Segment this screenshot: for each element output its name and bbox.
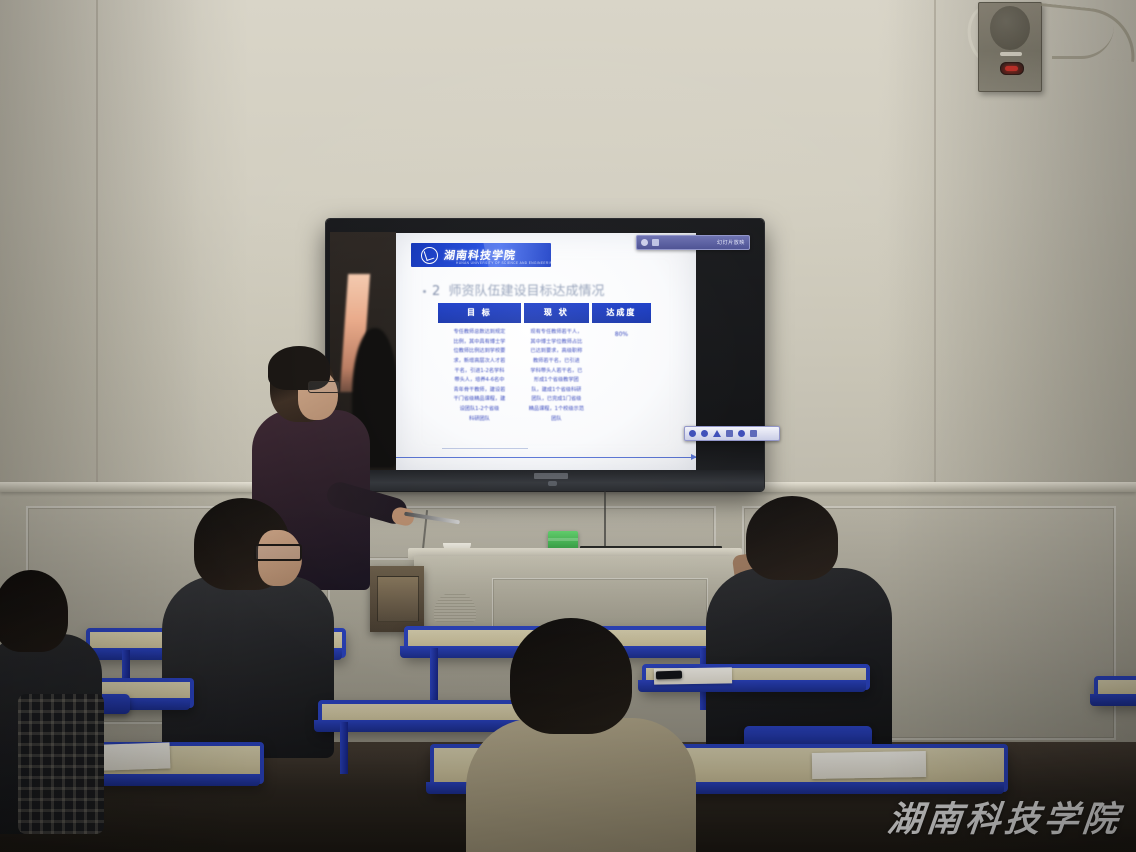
wall-seam — [934, 0, 936, 500]
attendee-bottom-left — [0, 570, 114, 852]
table-text-line: 专任教师总数达到规定 — [438, 328, 521, 338]
table-text-line: 团队，已完成1门省级 — [524, 395, 589, 405]
table-text-line: 现有专任教师若干人， — [524, 328, 589, 338]
slide-bullet-line: 2 师资队伍建设目标达成情况 — [423, 280, 682, 299]
more-icon[interactable] — [738, 430, 745, 437]
table-text-line: 教师若干名，已引进 — [524, 357, 589, 367]
bullet-dot-icon — [423, 290, 426, 293]
slide-banner: 湖南科技学院 HUNAN UNIVERSITY OF SCIENCE AND E… — [411, 243, 551, 267]
pen-icon[interactable] — [652, 239, 659, 246]
table-text-line: 团队 — [524, 415, 589, 425]
bullet-number: 2 — [432, 284, 440, 299]
status-led — [1000, 62, 1024, 75]
attendee-head — [510, 618, 632, 734]
table-header-row: 目 标 现 状 达成度 — [438, 303, 651, 323]
table-header-achievement: 达成度 — [592, 303, 651, 323]
cable — [604, 491, 606, 549]
previous-icon[interactable] — [689, 430, 696, 437]
attendee-head — [746, 496, 838, 580]
next-icon[interactable] — [701, 430, 708, 437]
attendee-pattern — [18, 694, 104, 834]
bullet-text: 师资队伍建设目标达成情况 — [449, 284, 605, 299]
ir-receiver-icon — [548, 481, 557, 486]
glasses-icon — [254, 544, 302, 561]
wall-seam — [96, 0, 98, 500]
university-logo-icon — [421, 247, 438, 264]
glasses-icon — [308, 381, 340, 393]
attendee-torso — [162, 576, 334, 758]
slide-icon[interactable] — [726, 430, 733, 437]
display-brand-logo — [534, 473, 568, 479]
attendee-center-front — [466, 618, 716, 852]
wall-shadow-left — [0, 0, 200, 500]
achievement-value: 80% — [592, 329, 651, 340]
classroom-photo: 湖南科技学院 HUNAN UNIVERSITY OF SCIENCE AND E… — [0, 0, 1136, 852]
presentation-toolbar-bottom[interactable] — [684, 426, 780, 441]
annotation-icon[interactable] — [641, 239, 648, 246]
table-text-line: 队，建成1个省级科研 — [524, 386, 589, 396]
end-icon[interactable] — [750, 430, 757, 437]
table-text-line: 其中博士学位教师占比 — [524, 338, 589, 348]
table-text-line: 已达到要求，高级职称 — [524, 347, 589, 357]
table-text-line: 精品课程，1个校级示范 — [524, 405, 589, 415]
attendee-head — [0, 570, 68, 652]
paper — [812, 751, 926, 779]
desk — [1094, 676, 1136, 696]
table-text-line: 学科带头人若干名，已 — [524, 367, 589, 377]
presentation-toolbar-top[interactable]: 幻灯片放映 — [636, 235, 750, 250]
table-cell-achievement: 80% — [592, 328, 651, 424]
table-cell-status: 现有专任教师若干人，其中博士学位教师占比已达到要求，高级职称教师若干名，已引进学… — [524, 328, 589, 424]
watermark: 湖南科技学院 — [885, 791, 1124, 842]
speaker-grille-icon — [990, 6, 1030, 50]
device-slot — [1000, 52, 1022, 56]
toolbar-label: 幻灯片放映 — [717, 239, 745, 246]
table-text-line: 比例，其中具有博士学 — [438, 338, 521, 348]
desk-leg — [340, 722, 348, 774]
table-header-status: 现 状 — [524, 303, 589, 323]
pen-icon[interactable] — [713, 430, 721, 437]
table-text-line: 形成1个省级教学团 — [524, 376, 589, 386]
banner-subtitle: HUNAN UNIVERSITY OF SCIENCE AND ENGINEER… — [456, 261, 551, 265]
table-header-goal: 目 标 — [438, 303, 521, 323]
